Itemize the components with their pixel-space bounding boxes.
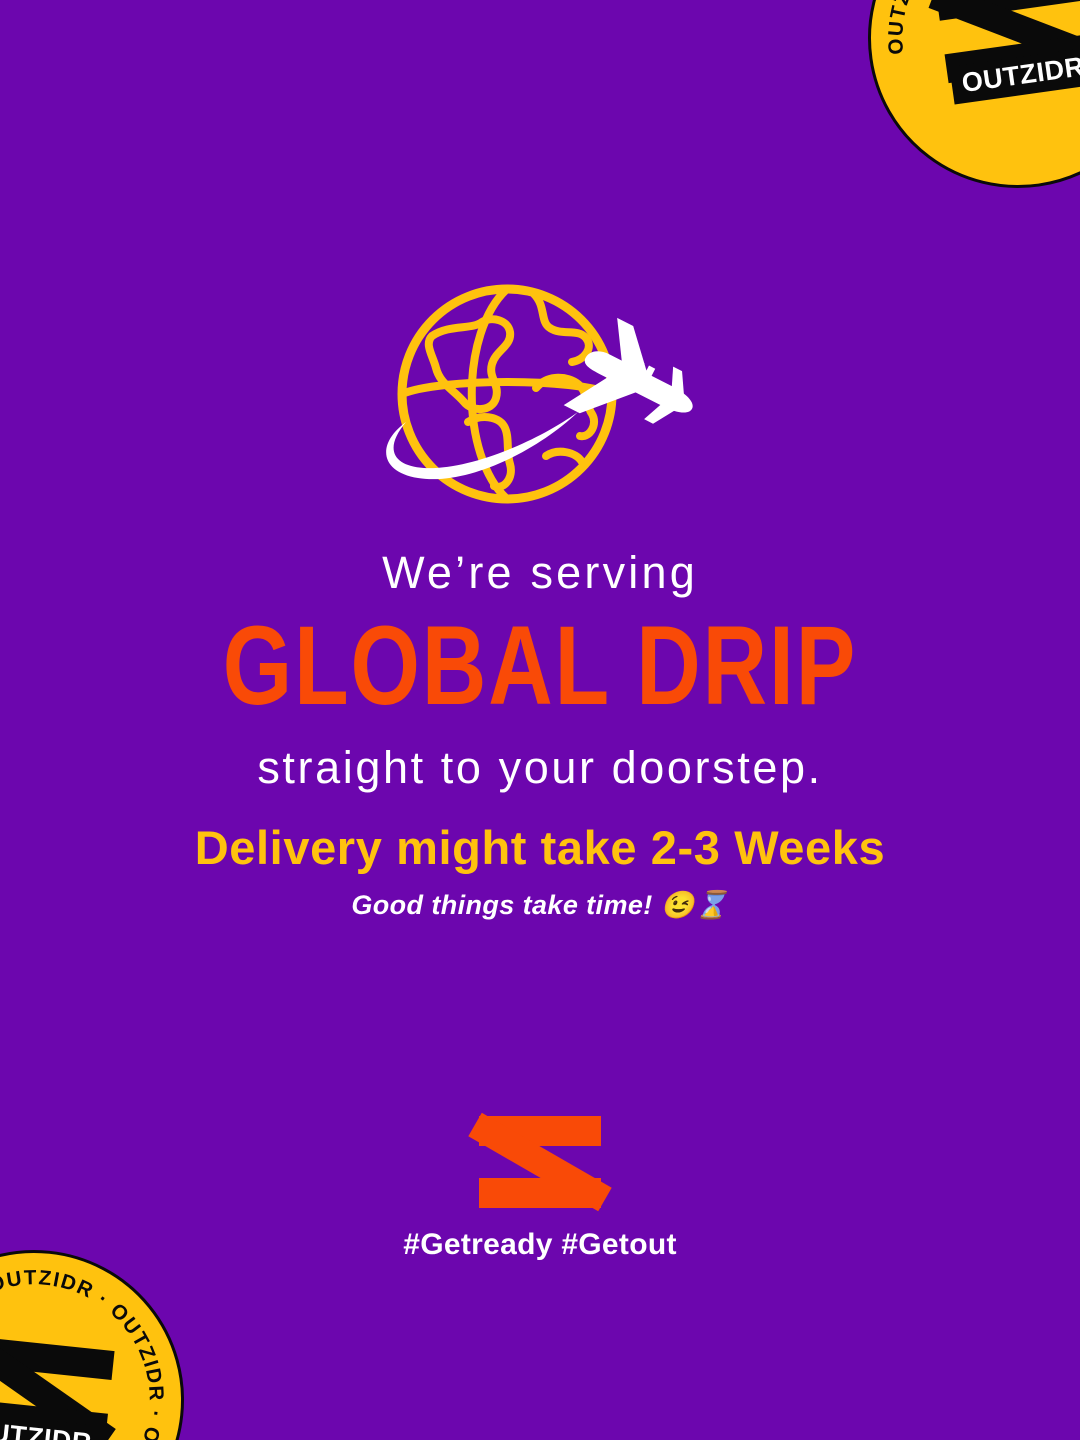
footer-brand-block: #Getready #Getout xyxy=(0,1116,1080,1262)
delivery-notice-block: Delivery might take 2-3 Weeks Good thing… xyxy=(0,822,1080,921)
z-logo-icon xyxy=(479,1116,601,1208)
copy-line-doorstep: straight to your doorstep. xyxy=(0,743,1080,793)
copy-line-serving: We’re serving xyxy=(0,548,1080,598)
continent-bottom-right-icon xyxy=(546,452,582,462)
hero-illustration xyxy=(0,272,1080,522)
badge-sticker-bottom-left: OUTZIDR · OUTZIDR · OUTZIDR · OUTZIDR · … xyxy=(0,1235,199,1440)
delivery-subtext: Good things take time! 😉⌛ xyxy=(0,889,1080,921)
globe-airplane-icon xyxy=(340,272,740,522)
badge-sticker-top-right: OUTZIDR · OUTZIDR · OUTZIDR · OUTZIDR · … xyxy=(849,0,1080,207)
headline-block: We’re serving GLOBAL DRIP straight to yo… xyxy=(0,548,1080,794)
promo-poster: OUTZIDR · OUTZIDR · OUTZIDR · OUTZIDR · … xyxy=(0,0,1080,1440)
copy-headline-global-drip: GLOBAL DRIP xyxy=(16,604,1064,730)
footer-hashtags: #Getready #Getout xyxy=(403,1228,677,1262)
delivery-headline: Delivery might take 2-3 Weeks xyxy=(0,822,1080,875)
